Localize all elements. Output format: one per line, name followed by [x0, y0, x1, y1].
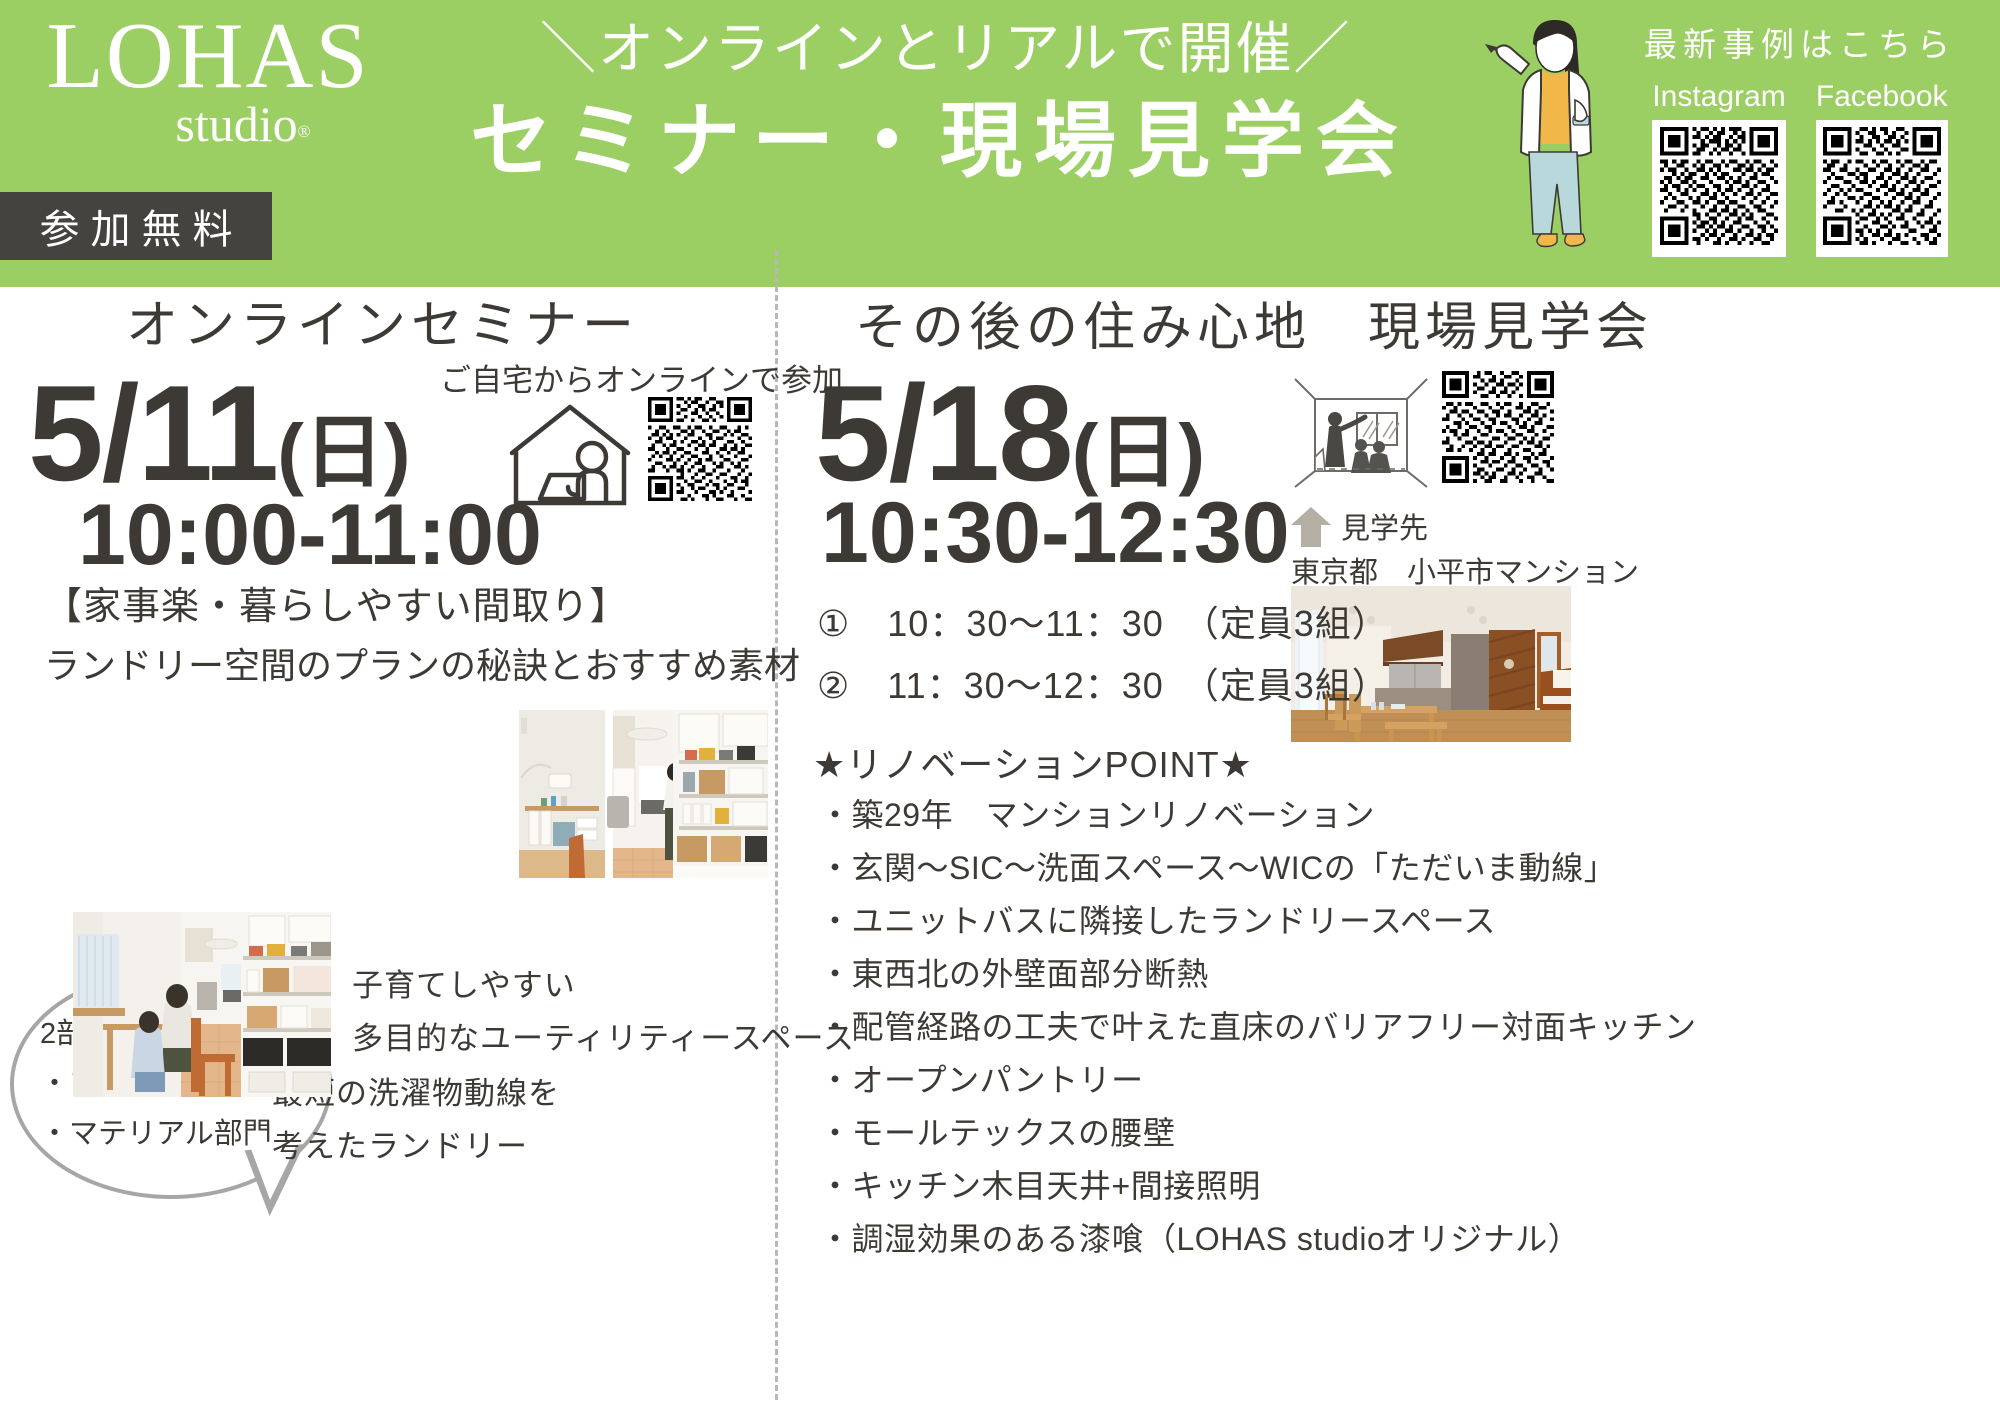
renovation-point-item: ・モールテックスの腰壁	[819, 1107, 1697, 1160]
photo-caption-utility-line2: 多目的なユーティリティースペース	[352, 1012, 855, 1065]
site-tour-column: その後の住み心地 現場見学会 5/18(日) 10:30-12:30	[785, 287, 2000, 1414]
seminar-lead-title: 【家事楽・暮らしやすい間取り】	[44, 575, 629, 630]
house-marker-icon	[1289, 505, 1333, 551]
left-column-title: オンラインセミナー	[0, 283, 775, 358]
tour-session-1: ① 10：30〜11：30 （定員3組）	[817, 593, 1389, 655]
renovation-points-list: ・築29年 マンションリノベーション ・玄関〜SIC〜洗面スペース〜WICの「た…	[819, 789, 1697, 1266]
column-divider	[775, 250, 778, 1400]
flyer-page: LOHAS studio® 参加無料 ＼オンラインとリアルで開催／ セミナー・現…	[0, 0, 2000, 1414]
renovation-points-heading: ★リノベーションPOINT★	[813, 736, 1253, 788]
qr-code-instagram[interactable]	[1652, 120, 1785, 257]
social-label-facebook: Facebook	[1816, 80, 1948, 114]
qr-code-icon	[1442, 371, 1554, 483]
renovation-point-item: ・玄関〜SIC〜洗面スペース〜WICの「ただいま動線」	[819, 842, 1697, 895]
tour-session-2: ② 11：30〜12：30 （定員3組）	[817, 655, 1389, 717]
photo-laundry-space	[519, 710, 768, 878]
photo-caption-utility-line1: 子育てしやすい	[352, 959, 855, 1012]
photo-caption-utility: 子育てしやすい 多目的なユーティリティースペース	[352, 959, 855, 1065]
renovation-point-item: ・キッチン木目天井+間接照明	[819, 1160, 1697, 1213]
right-date-dow: (日)	[1072, 408, 1205, 497]
free-badge-label: 参加無料	[29, 197, 244, 255]
renovation-point-item: ・調湿効果のある漆喰（LOHAS studioオリジナル）	[819, 1213, 1697, 1266]
qr-code-icon	[1823, 127, 1941, 245]
header-kicker: ＼オンラインとリアルで開催／	[540, 14, 1180, 84]
venue-label: 見学先	[1341, 507, 1428, 551]
right-qr-code[interactable]	[1442, 371, 1554, 488]
left-date-dow: (日)	[277, 408, 410, 497]
photo-caption-laundry-line2: 考えたランドリー	[272, 1120, 560, 1173]
social-links-group: 最新事例はこちら Instagram	[1610, 18, 1990, 257]
right-column-title: その後の住み心地 現場見学会	[785, 285, 2000, 360]
social-label-instagram: Instagram	[1652, 80, 1785, 114]
renovation-point-item: ・東西北の外壁面部分断熱	[819, 948, 1697, 1001]
seminar-lead-subtitle: ランドリー空間のプランの秘訣とおすすめ素材	[44, 637, 800, 689]
social-item-instagram[interactable]: Instagram	[1652, 80, 1785, 257]
qr-code-facebook[interactable]	[1816, 120, 1948, 257]
registered-mark-icon: ®	[298, 122, 311, 141]
header-headline: セミナー・現場見学会	[470, 90, 1190, 194]
brand-logo: LOHAS studio®	[28, 8, 388, 164]
qr-code-icon	[1660, 127, 1778, 245]
logo-main-text: LOHAS	[28, 8, 388, 104]
left-qr-code[interactable]	[648, 397, 752, 506]
renovation-point-item: ・築29年 マンションリノベーション	[819, 789, 1697, 842]
renovation-point-item: ・オープンパントリー	[819, 1054, 1697, 1107]
renovation-point-item: ・配管経路の工夫で叶えた直床のバリアフリー対面キッチン	[819, 1001, 1697, 1054]
online-participation-note: ご自宅からオンラインで参加	[440, 355, 843, 400]
renovation-point-item: ・ユニットバスに隣接したランドリースペース	[819, 895, 1697, 948]
home-laptop-icon	[500, 395, 640, 515]
tour-sessions-list: ① 10：30〜11：30 （定員3組） ② 11：30〜12：30 （定員3組…	[817, 593, 1389, 717]
qr-code-icon	[648, 397, 752, 501]
social-item-facebook[interactable]: Facebook	[1816, 80, 1948, 257]
room-tour-icon	[1291, 373, 1431, 493]
online-seminar-column: オンラインセミナー 5/11(日) 10:00-11:00 ご自宅からオンライン…	[0, 287, 775, 1414]
header-banner: LOHAS studio® 参加無料 ＼オンラインとリアルで開催／ セミナー・現…	[0, 0, 2000, 287]
social-title: 最新事例はこちら	[1610, 18, 1990, 66]
photo-utility-space	[73, 912, 331, 1097]
right-event-time: 10:30-12:30	[821, 485, 1290, 581]
free-participation-badge: 参加無料	[0, 192, 272, 260]
left-event-time: 10:00-11:00	[78, 487, 542, 583]
logo-sub-text: studio®	[28, 98, 388, 158]
